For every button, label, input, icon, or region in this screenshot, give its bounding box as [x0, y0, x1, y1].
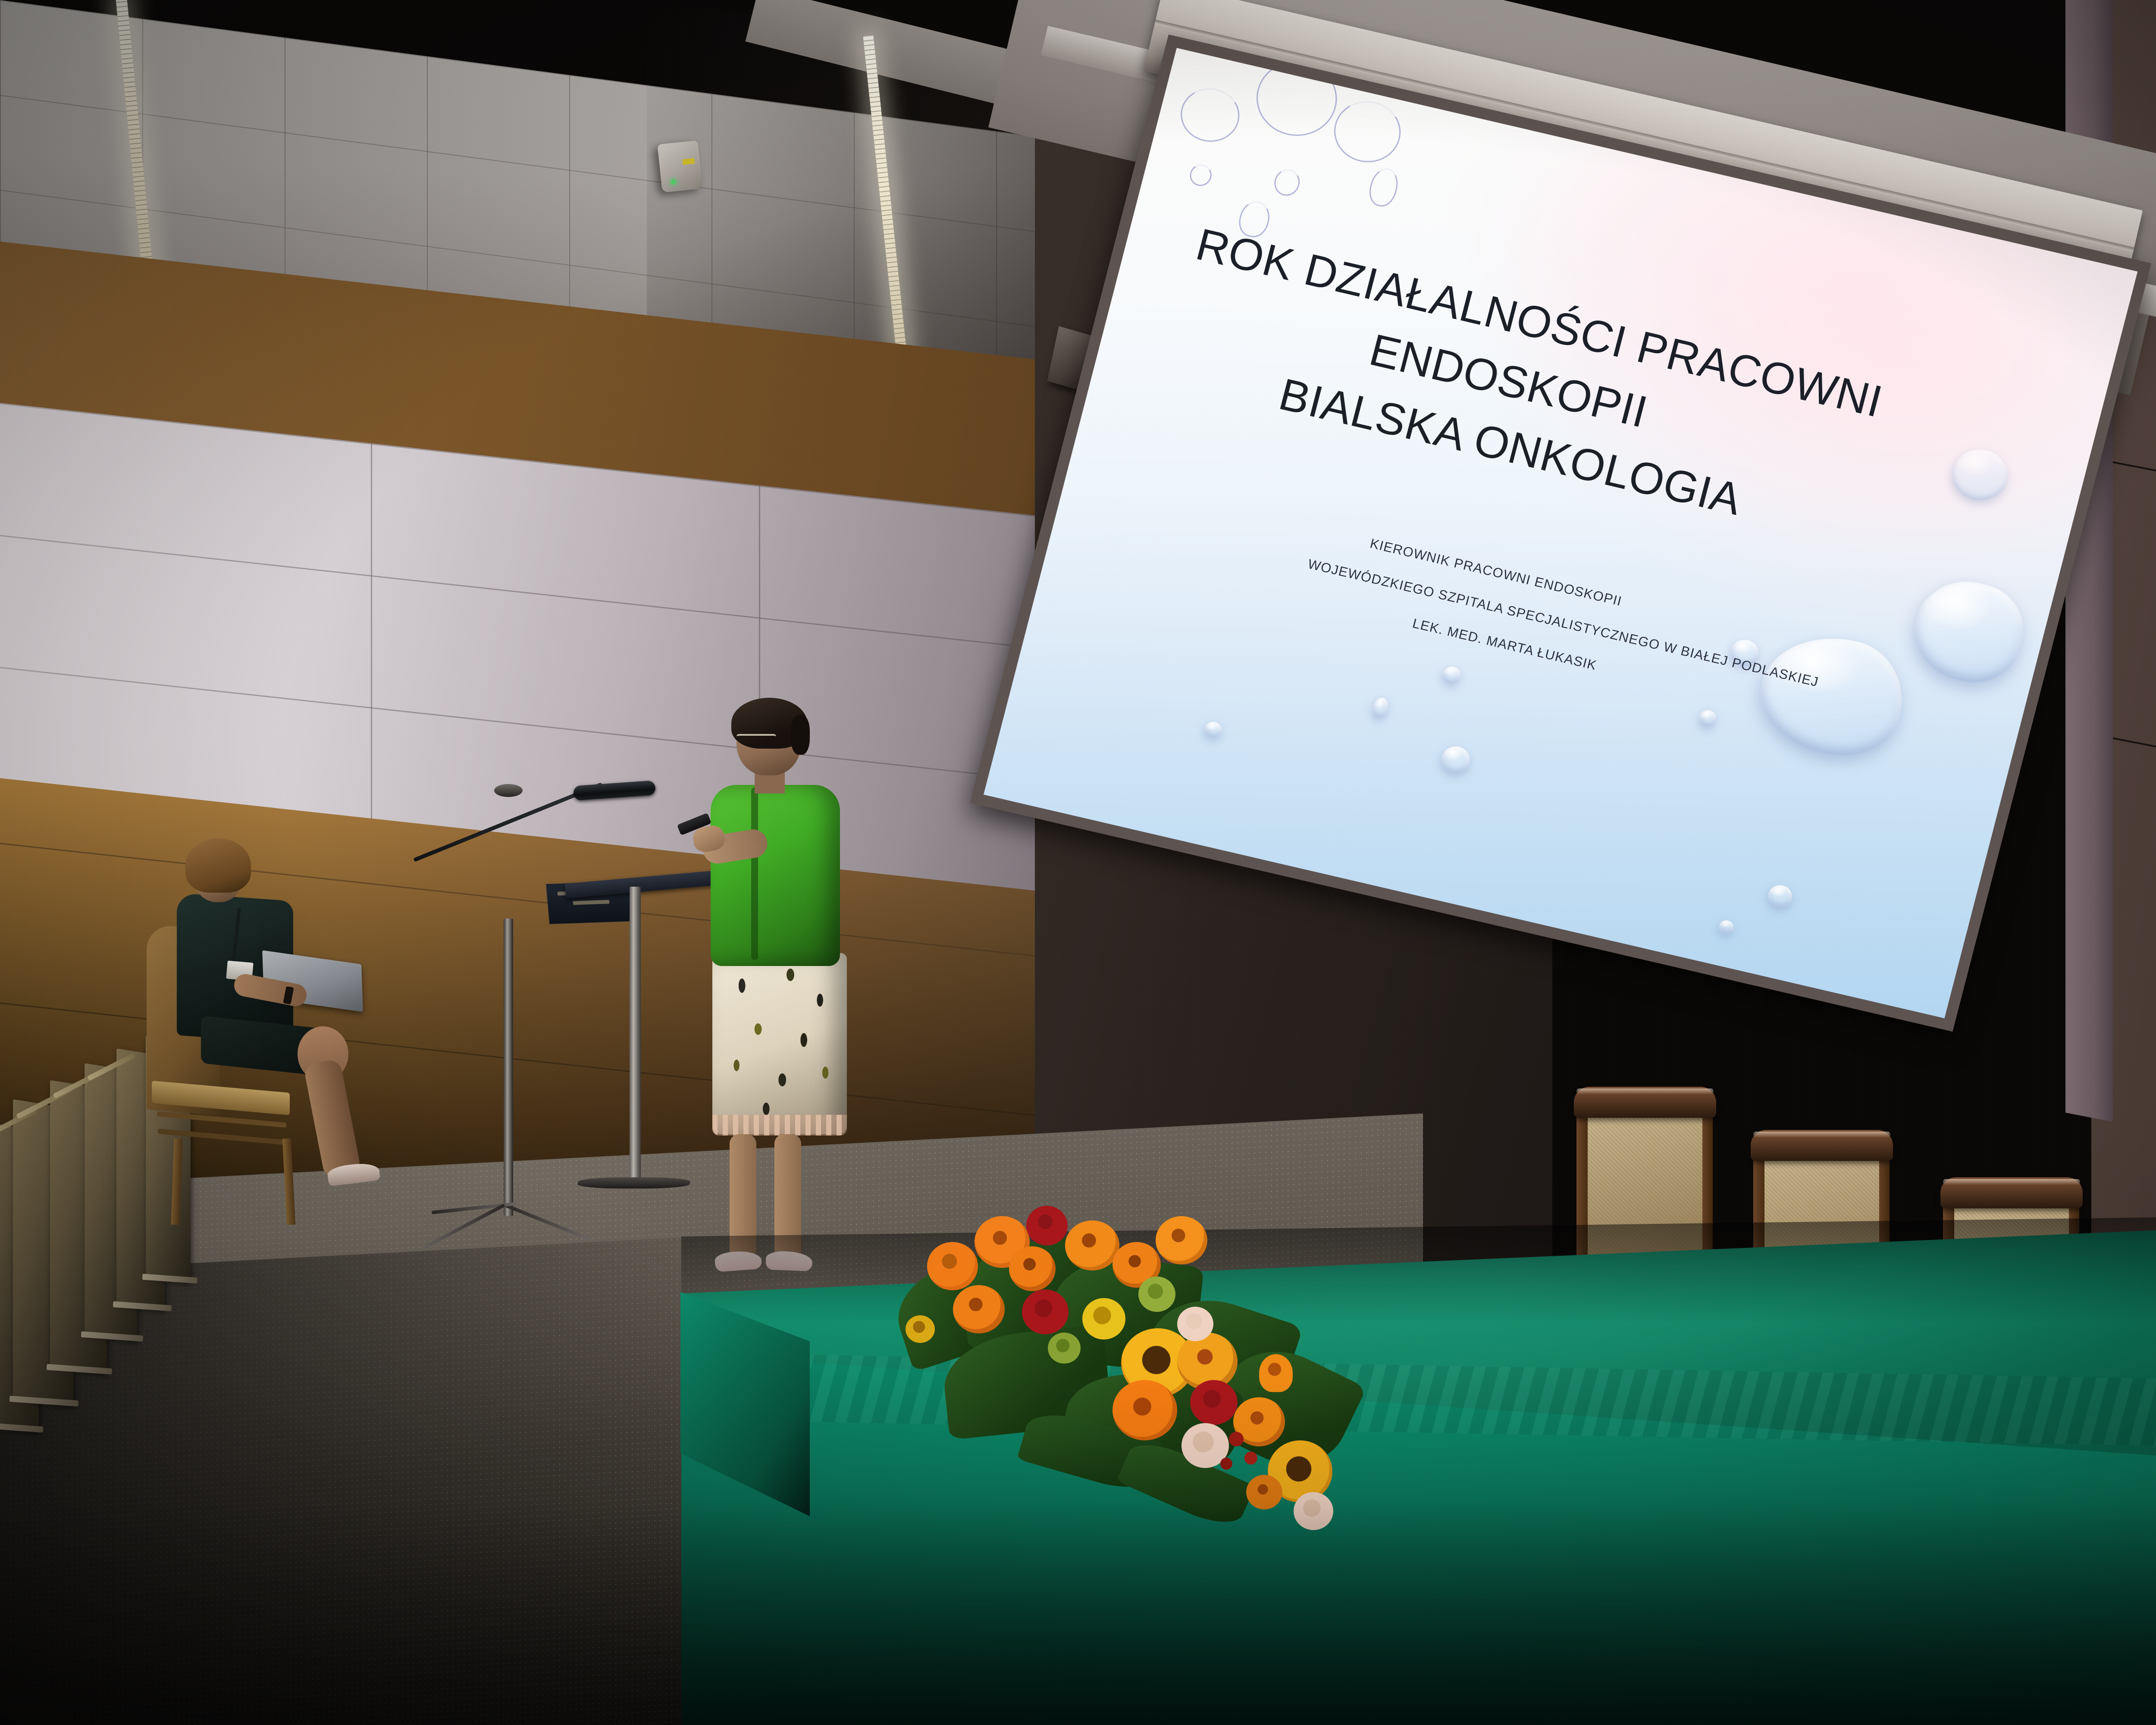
slide-subtitle: KIEROWNIK PRACOWNI ENDOSKOPII WOJEWÓDZKI… [1298, 524, 1914, 742]
microphone-leg-hub [494, 784, 523, 797]
attendee-hair [185, 838, 251, 893]
lectern [595, 875, 703, 1233]
berry [1220, 1458, 1232, 1470]
flower-rose [1022, 1289, 1069, 1334]
flower-marigold [953, 1285, 1005, 1333]
photo-scene: ROK DZIAŁALNOŚCI PRACOWNI ENDOSKOPII BIA… [0, 0, 2156, 1725]
flower-marigold [927, 1242, 978, 1290]
microphone-pole [504, 919, 513, 1216]
flower-bud [906, 1315, 935, 1343]
berry [1229, 1432, 1244, 1446]
slide-droplet-large [1904, 571, 2034, 692]
flower-arrangement [880, 1190, 1440, 1578]
flower-marigold [1009, 1246, 1056, 1291]
flower-carnation-pale [1177, 1307, 1213, 1341]
smoke-detector-icon [657, 140, 702, 192]
presenter [690, 703, 871, 1285]
flower-rose [1026, 1206, 1068, 1245]
chair-top-rail [1574, 1087, 1716, 1118]
seated-attendee [142, 837, 410, 1212]
attendee-chair-rail [157, 1111, 286, 1128]
slide-droplet [1203, 720, 1223, 740]
slide-bubble-outline [1175, 82, 1245, 147]
chair-top-rail [1751, 1130, 1893, 1161]
slide-droplet [1697, 708, 1718, 728]
flower-bud [1259, 1354, 1293, 1392]
flower-rose [1190, 1380, 1238, 1425]
flower-chrysanthemum [1082, 1298, 1125, 1339]
slide-droplet [1441, 665, 1463, 685]
slide-title: ROK DZIAŁALNOŚCI PRACOWNI ENDOSKOPII BIA… [1157, 213, 1916, 564]
chair-top-rail [1940, 1177, 2083, 1208]
slide-subtitle-line-2: WOJEWÓDZKIEGO SZPITALA SPECJALISTYCZNEGO… [1307, 557, 1905, 709]
flower-marigold [1112, 1380, 1177, 1440]
flower-bud [1246, 1475, 1282, 1509]
slide-bubble-outline [1188, 163, 1214, 188]
slide-droplet [1947, 444, 2013, 505]
slide-bubble-outline [1366, 166, 1401, 209]
presenter-skirt-lace-trim [712, 1115, 847, 1135]
flower-marigold [1156, 1216, 1207, 1264]
slide-bubble-outline [1272, 166, 1303, 198]
detector-label-sticker [682, 158, 695, 165]
eyeglasses-icon [736, 734, 776, 744]
flower-green-berry-cluster [1048, 1333, 1081, 1364]
lectern-post [630, 887, 641, 1189]
slide-droplet [1438, 743, 1473, 776]
flower-green-berry-cluster [1138, 1276, 1175, 1312]
slide-droplet [1371, 696, 1390, 719]
lectern-base [577, 1177, 691, 1189]
flower-carnation-pale [1294, 1492, 1333, 1530]
flower-marigold [1065, 1220, 1119, 1270]
attendee-shin [303, 1058, 362, 1179]
slide-bubble-outline [1328, 94, 1408, 169]
presenter-cardigan-edge [751, 787, 758, 960]
slide-subtitle-line-1: KIEROWNIK PRACOWNI ENDOSKOPII [1369, 536, 1914, 676]
berry [1244, 1452, 1257, 1465]
presenter-cardigan [711, 785, 840, 966]
slide-droplet [1717, 919, 1735, 935]
microphone-tripod-legs [431, 1203, 612, 1259]
slide-droplet [1766, 883, 1795, 910]
presenter-skirt [712, 953, 847, 1134]
detector-led-icon [671, 179, 676, 185]
